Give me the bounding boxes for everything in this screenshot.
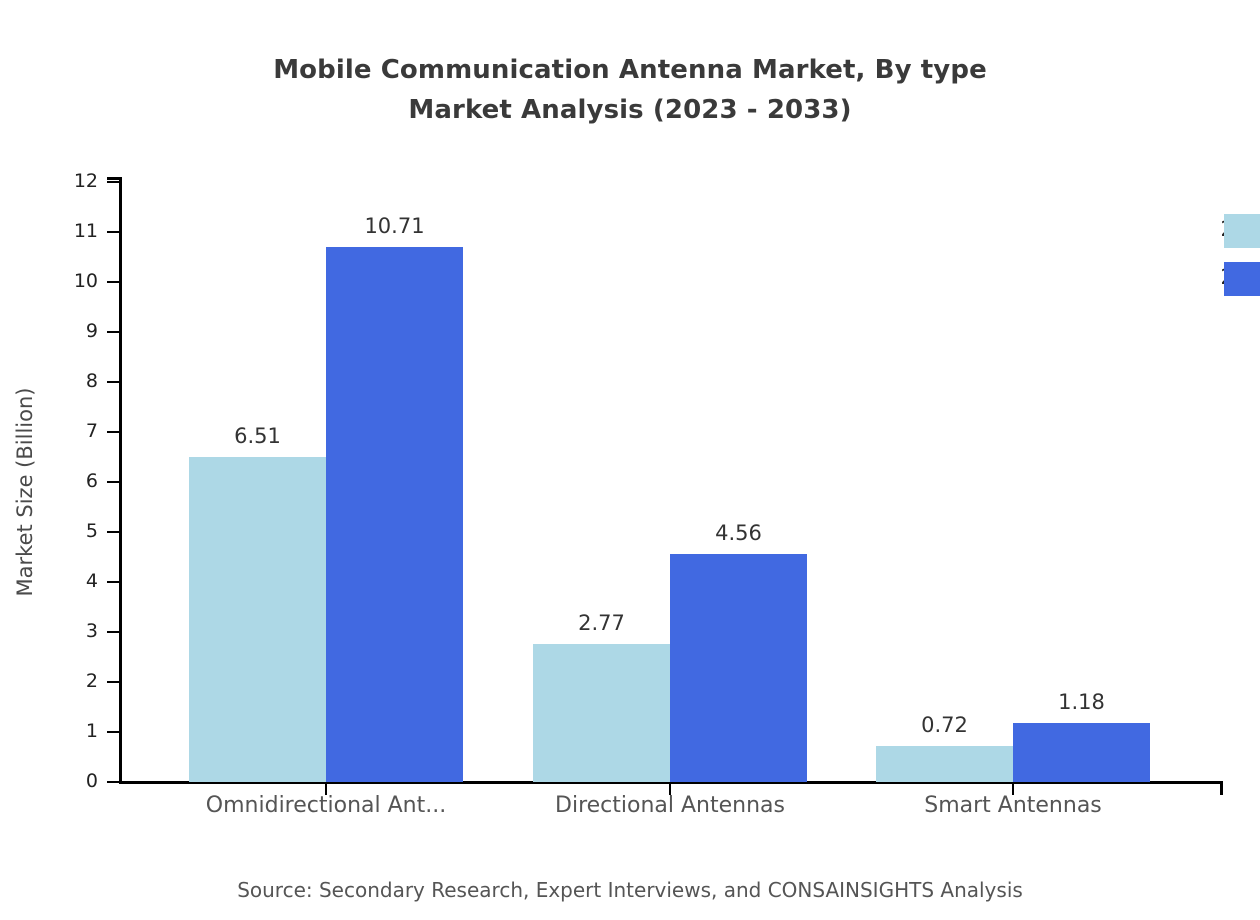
chart-title-line-2: Market Analysis (2023 - 2033) [0, 90, 1260, 130]
y-axis-tick [107, 531, 121, 533]
y-axis-tick-label: 8 [38, 372, 98, 391]
bar-value-label: 10.71 [315, 216, 475, 237]
y-axis-tick [107, 581, 121, 583]
legend-swatch [1224, 214, 1260, 248]
bar-2023-0[interactable] [189, 457, 326, 783]
y-axis-tick [107, 231, 121, 233]
y-axis-tick-label: 10 [38, 272, 98, 291]
x-axis-category-label: Smart Antennas [813, 793, 1213, 818]
y-axis-tick-label: 3 [38, 622, 98, 641]
y-axis-tick [107, 181, 121, 183]
bar-2033-2[interactable] [1013, 723, 1150, 782]
y-axis-tick [107, 681, 121, 683]
y-axis-tick-label: 0 [38, 772, 98, 791]
legend-item-2023[interactable]: 2023 [1130, 214, 1260, 248]
bar-2033-0[interactable] [326, 247, 463, 783]
y-axis-tick [107, 381, 121, 383]
y-axis-tick [107, 331, 121, 333]
bar-value-label: 2.77 [522, 613, 682, 634]
legend-swatch [1224, 262, 1260, 296]
y-axis-tick [107, 481, 121, 483]
y-axis-tick-label: 2 [38, 672, 98, 691]
bar-value-label: 0.72 [865, 715, 1025, 736]
bar-2023-1[interactable] [533, 644, 670, 783]
bar-value-label: 6.51 [178, 426, 338, 447]
bar-2033-1[interactable] [670, 554, 807, 782]
x-axis-category-label: Omnidirectional Ant... [126, 793, 526, 818]
y-axis-tick-label: 7 [38, 422, 98, 441]
chart-title: Mobile Communication Antenna Market, By … [0, 50, 1260, 130]
source-note: Source: Secondary Research, Expert Inter… [0, 878, 1260, 902]
y-axis-tick-label: 4 [38, 572, 98, 591]
x-axis-end-cap [1220, 781, 1223, 795]
chart-title-line-1: Mobile Communication Antenna Market, By … [273, 55, 987, 85]
legend-item-2033[interactable]: 2033 [1130, 262, 1260, 296]
y-axis-tick [107, 631, 121, 633]
x-axis-category-label: Directional Antennas [470, 793, 870, 818]
y-axis-tick-label: 11 [38, 222, 98, 241]
bar-2023-2[interactable] [876, 746, 1013, 782]
bar-value-label: 1.18 [1002, 692, 1162, 713]
y-axis-tick-label: 9 [38, 322, 98, 341]
chart-container: Mobile Communication Antenna Market, By … [0, 0, 1260, 920]
y-axis-tick-label: 1 [38, 722, 98, 741]
y-axis-tick-label: 12 [38, 172, 98, 191]
y-axis-tick [107, 281, 121, 283]
y-axis-tick-label: 5 [38, 522, 98, 541]
y-axis-tick-label: 6 [38, 472, 98, 491]
bar-value-label: 4.56 [659, 523, 819, 544]
y-axis-tick [107, 431, 121, 433]
y-axis-tick [107, 731, 121, 733]
y-axis-title-text: Market Size (Billion) [13, 342, 37, 642]
y-axis-tick [107, 781, 121, 783]
y-axis-top-cap [107, 177, 121, 180]
y-axis-title: Market Size (Billion) [0, 0, 40, 920]
